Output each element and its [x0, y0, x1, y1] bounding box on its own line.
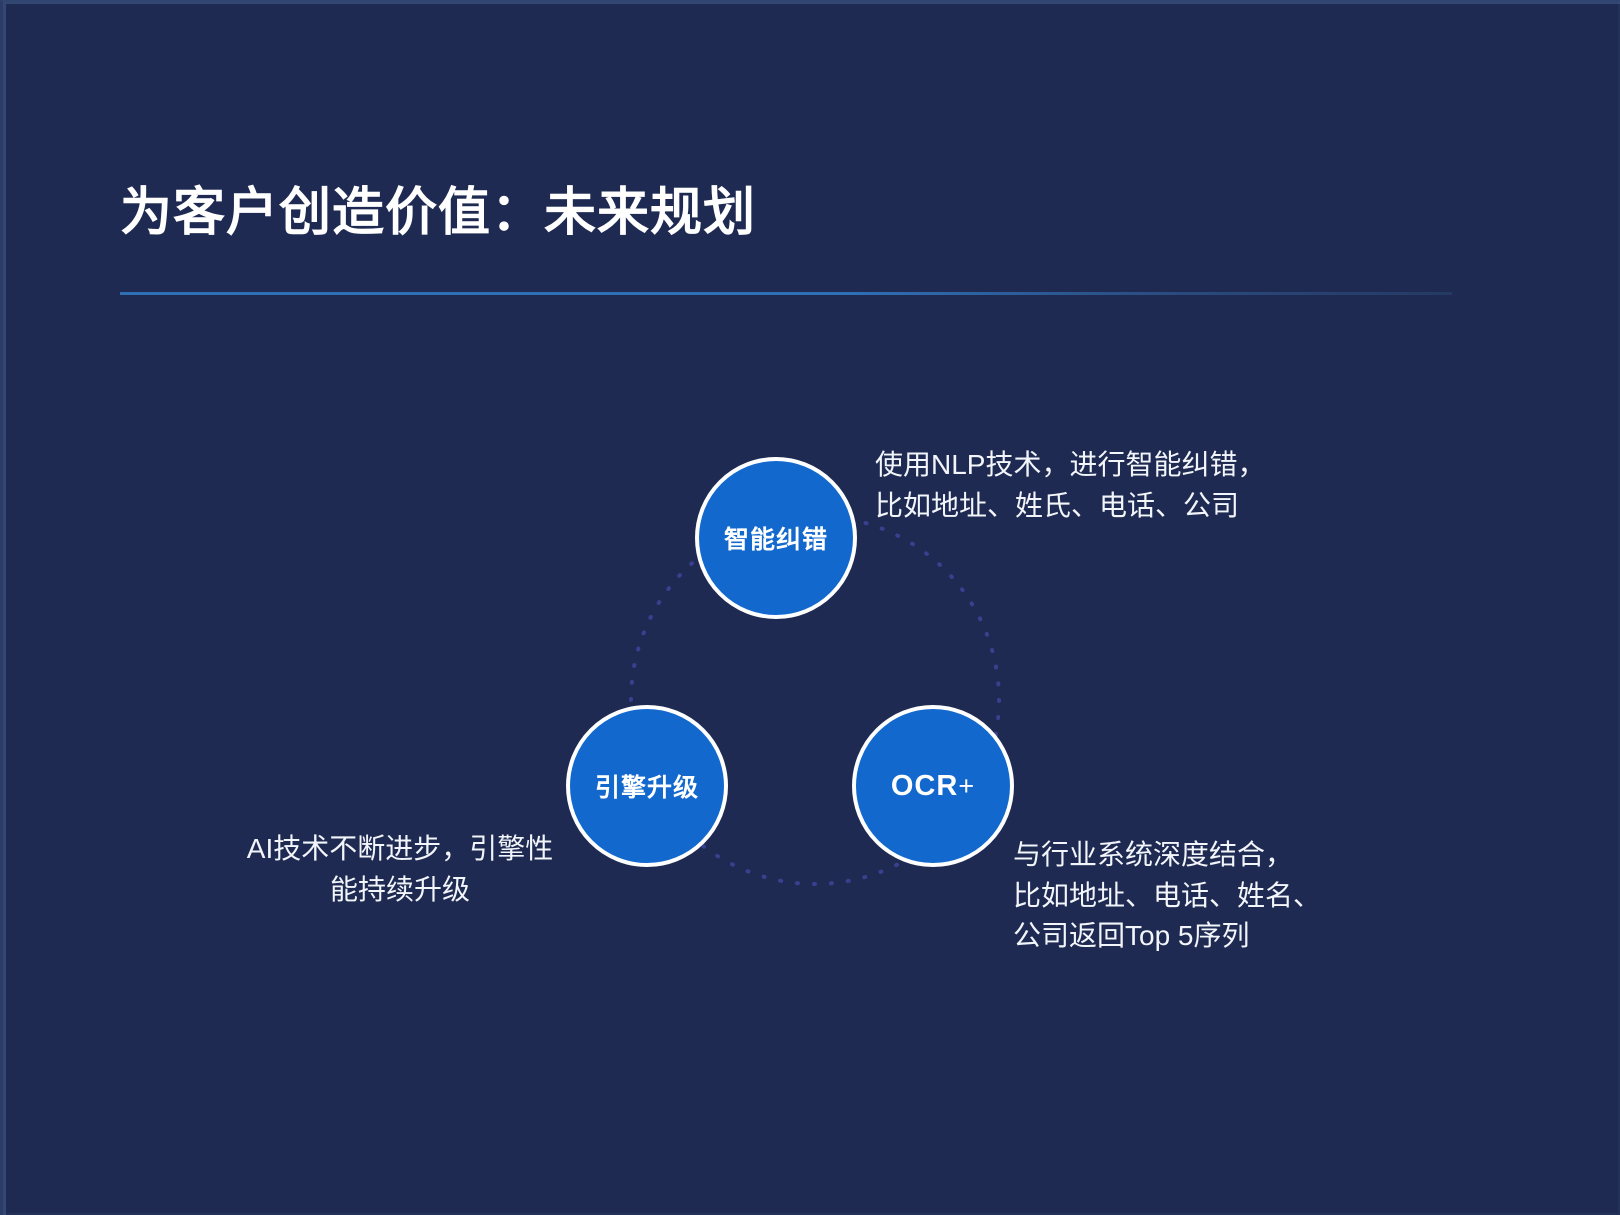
- future-plan-diagram: 智能纠错 引擎升级 OCR+ 使用NLP技术，进行智能纠错， 比如地址、姓氏、电…: [3, 2, 1620, 1215]
- slide-canvas: 为客户创造价值：未来规划 智能纠错 引擎升级 OCR+ 使用NLP技术，进行智能…: [0, 0, 1620, 1215]
- node-ocr-plus-suffix: +: [958, 771, 975, 802]
- node-smart-correction[interactable]: 智能纠错: [695, 457, 857, 619]
- node-ocr-plus[interactable]: OCR+: [852, 705, 1014, 867]
- node-engine-upgrade-label: 引擎升级: [595, 768, 699, 804]
- callout-smart-correction: 使用NLP技术，进行智能纠错， 比如地址、姓氏、电话、公司: [875, 445, 1265, 526]
- node-smart-correction-label: 智能纠错: [724, 520, 828, 556]
- node-engine-upgrade[interactable]: 引擎升级: [566, 705, 728, 867]
- node-ocr-plus-label: OCR: [891, 770, 958, 803]
- callout-ocr-plus: 与行业系统深度结合， 比如地址、电话、姓名、 公司返回Top 5序列: [1013, 835, 1321, 957]
- callout-engine-upgrade: AI技术不断进步，引擎性 能持续升级: [235, 829, 565, 910]
